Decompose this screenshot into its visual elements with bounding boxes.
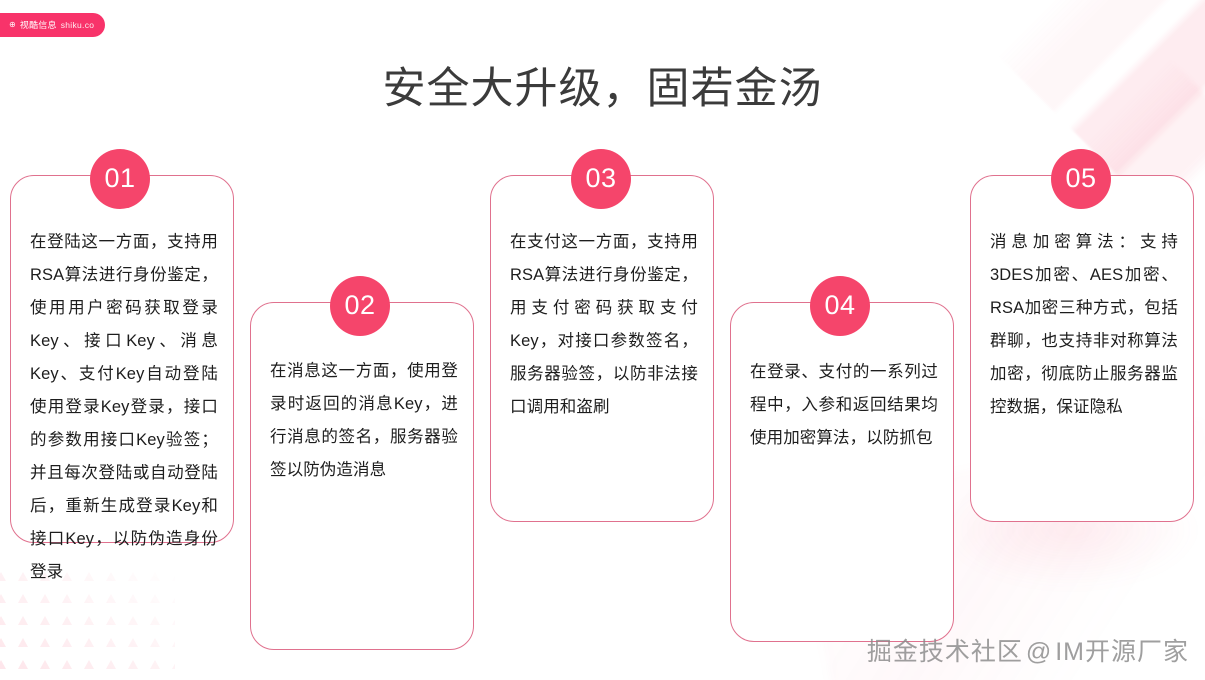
feature-card: 消息加密算法：支持3DES加密、AES加密、RSA加密三种方式，包括群聊，也支持…	[970, 175, 1194, 522]
watermark-site-label: 掘金技术社区	[867, 638, 1023, 666]
feature-card-number-badge: 01	[90, 149, 150, 209]
feature-card-number-badge: 02	[330, 276, 390, 336]
feature-card-number-badge: 05	[1051, 149, 1111, 209]
source-badge-cn-label: 视酷信息	[20, 21, 57, 30]
feature-card: 在登录、支付的一系列过程中，入参和返回结果均使用加密算法，以防抓包	[730, 302, 954, 642]
watermark-at-symbol: @	[1026, 638, 1052, 666]
source-badge-en-label: shiku.co	[61, 21, 95, 30]
feature-card-text: 消息加密算法：支持3DES加密、AES加密、RSA加密三种方式，包括群聊，也支持…	[990, 226, 1178, 424]
bottom-watermark: 掘金技术社区@IM开源厂家	[867, 637, 1189, 667]
feature-card: 在消息这一方面，使用登录时返回的消息Key，进行消息的签名，服务器验签以防伪造消…	[250, 302, 474, 650]
feature-card-text: 在登录、支付的一系列过程中，入参和返回结果均使用加密算法，以防抓包	[750, 356, 938, 455]
feature-card-text: 在支付这一方面，支持用RSA算法进行身份鉴定，用支付密码获取支付Key，对接口参…	[510, 226, 698, 424]
slide-canvas: ⊕ 视酷信息 shiku.co 安全大升级，固若金汤 在登陆这一方面，支持用RS…	[0, 0, 1205, 680]
feature-card: 在支付这一方面，支持用RSA算法进行身份鉴定，用支付密码获取支付Key，对接口参…	[490, 175, 714, 522]
watermark-account-label: IM开源厂家	[1055, 638, 1189, 666]
page-title: 安全大升级，固若金汤	[0, 63, 1205, 117]
feature-card-number-badge: 04	[810, 276, 870, 336]
feature-card: 在登陆这一方面，支持用RSA算法进行身份鉴定，使用用户密码获取登录Key、接口K…	[10, 175, 234, 543]
feature-card-text: 在登陆这一方面，支持用RSA算法进行身份鉴定，使用用户密码获取登录Key、接口K…	[30, 226, 218, 589]
feature-card-text: 在消息这一方面，使用登录时返回的消息Key，进行消息的签名，服务器验签以防伪造消…	[270, 355, 458, 487]
feature-card-number-badge: 03	[571, 149, 631, 209]
circle-plus-icon: ⊕	[9, 21, 16, 29]
source-watermark-badge: ⊕ 视酷信息 shiku.co	[0, 13, 105, 37]
